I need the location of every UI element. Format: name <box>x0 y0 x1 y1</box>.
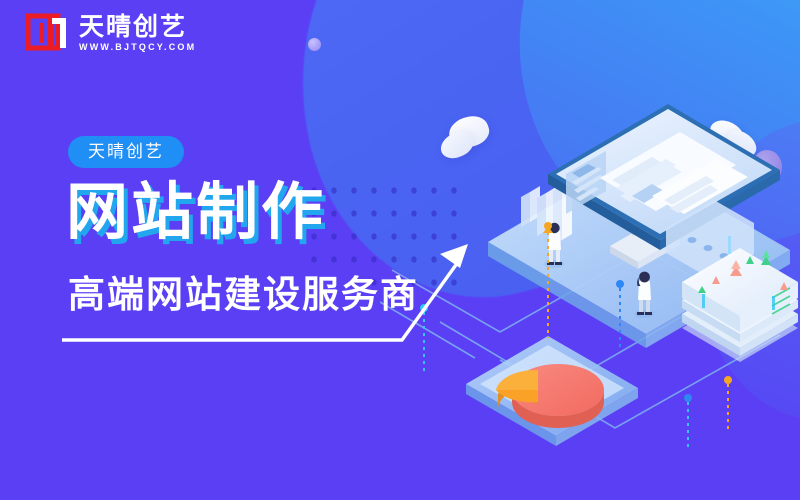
tqcy-square-mark-icon <box>26 12 68 54</box>
marker-pin-orange-2 <box>724 376 732 432</box>
logo-company-name: 天晴创艺 <box>79 15 196 40</box>
growth-arrow-icon <box>50 228 470 358</box>
logo-website-url: WWW.BJTQCY.COM <box>79 43 196 52</box>
brand-logo[interactable]: 天晴创艺 WWW.BJTQCY.COM <box>26 12 196 54</box>
brand-badge: 天晴创艺 <box>68 136 184 168</box>
promo-banner: 天晴创艺 WWW.BJTQCY.COM 天晴创艺 网站制作 高端网站建设服务商 <box>0 0 800 500</box>
decorative-sphere-small <box>308 38 321 51</box>
logo-text-block: 天晴创艺 WWW.BJTQCY.COM <box>79 15 196 52</box>
marker-pin-cyan-2 <box>684 394 692 450</box>
